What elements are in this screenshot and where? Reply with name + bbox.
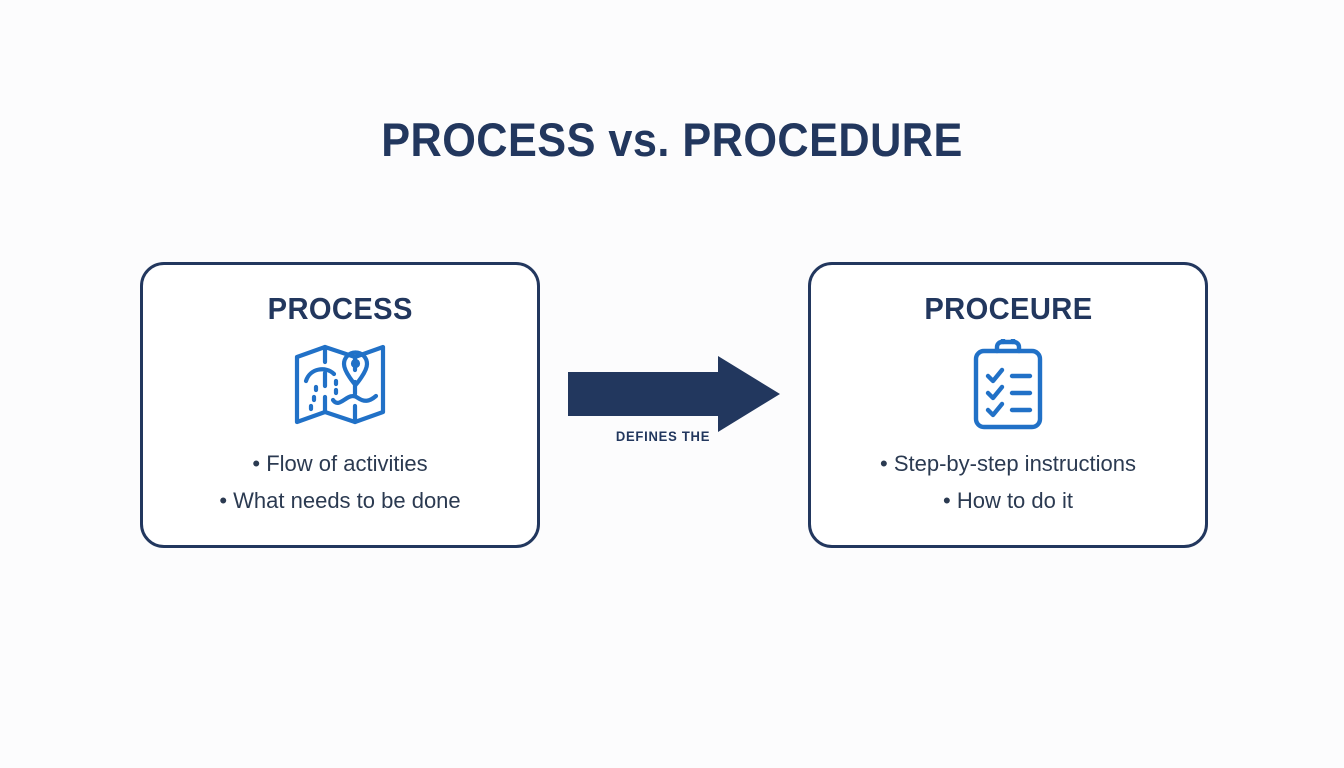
page-title: PROCESS vs. PROCEDURE — [54, 112, 1290, 167]
diagram-canvas: PROCESS vs. PROCEDURE PROCESS — [0, 0, 1344, 768]
card-procedure-title: PROCEURE — [924, 291, 1092, 327]
folded-map-icon — [292, 339, 388, 431]
list-item: • How to do it — [811, 482, 1205, 519]
list-item: • Flow of activities — [143, 445, 537, 482]
connector-group: DEFINES THE — [568, 356, 784, 456]
card-procedure: PROCEURE • Step-by-step instructions — [808, 262, 1208, 548]
list-item: • What needs to be done — [143, 482, 537, 519]
connector-label: DEFINES THE — [575, 428, 752, 444]
list-item: • Step-by-step instructions — [811, 445, 1205, 482]
clipboard-checklist-icon — [968, 339, 1048, 431]
card-process-bullets: • Flow of activities • What needs to be … — [143, 445, 537, 519]
right-arrow-icon — [568, 356, 784, 436]
card-process-title: PROCESS — [267, 291, 412, 327]
card-process: PROCESS — [140, 262, 540, 548]
card-procedure-bullets: • Step-by-step instructions • How to do … — [811, 445, 1205, 519]
